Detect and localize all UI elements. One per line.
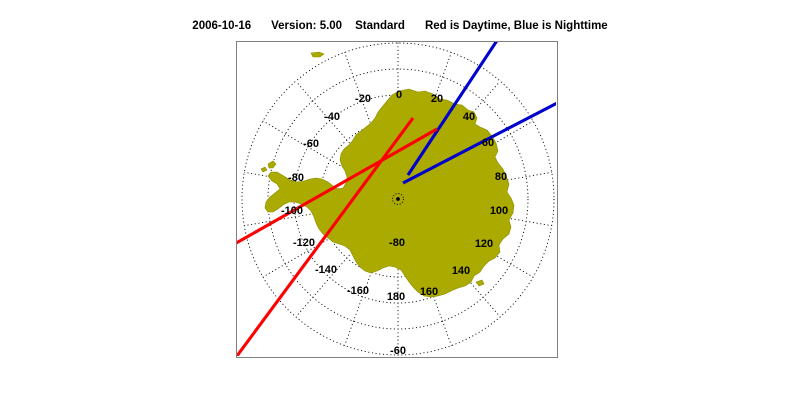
antarctica-polar-map: 020406080100120140160180-160-140-120-100… (237, 42, 556, 356)
plot-title: 2006-10-16Version: 5.00StandardRed is Da… (0, 16, 800, 34)
longitude-label-neg160: -160 (347, 285, 369, 297)
longitude-label-40: 40 (463, 111, 475, 123)
longitude-label-180: 180 (387, 291, 405, 303)
small-island-2 (476, 280, 484, 286)
longitude-label-neg140: -140 (315, 264, 337, 276)
latitude-label-neg80: -80 (389, 237, 405, 249)
small-island-1 (261, 167, 267, 172)
latitude-label-neg60: -60 (390, 345, 406, 356)
map-plot-frame: 020406080100120140160180-160-140-120-100… (236, 41, 558, 358)
longitude-label-140: 140 (452, 265, 470, 277)
longitude-label-neg80: -80 (288, 172, 304, 184)
longitude-label-120: 120 (475, 238, 493, 250)
title-mode: Standard (355, 20, 405, 32)
longitude-label-neg100: -100 (281, 205, 303, 217)
longitude-label-neg120: -120 (293, 237, 315, 249)
south-georgia-island (311, 52, 324, 57)
peninsula-tip-island (268, 161, 276, 168)
longitude-label-neg40: -40 (324, 111, 340, 123)
longitude-label-0: 0 (396, 89, 402, 101)
longitude-label-160: 160 (420, 286, 438, 298)
longitude-label-neg60: -60 (303, 138, 319, 150)
longitude-label-neg20: -20 (355, 93, 371, 105)
longitude-label-100: 100 (490, 205, 508, 217)
screenshot-root: 2006-10-16Version: 5.00StandardRed is Da… (0, 0, 800, 400)
title-version: Version: 5.00 (271, 20, 342, 32)
longitude-label-80: 80 (495, 171, 507, 183)
title-date: 2006-10-16 (192, 20, 251, 32)
longitude-label-20: 20 (431, 93, 443, 105)
longitude-label-60: 60 (482, 137, 494, 149)
title-legend: Red is Daytime, Blue is Nighttime (425, 20, 608, 32)
